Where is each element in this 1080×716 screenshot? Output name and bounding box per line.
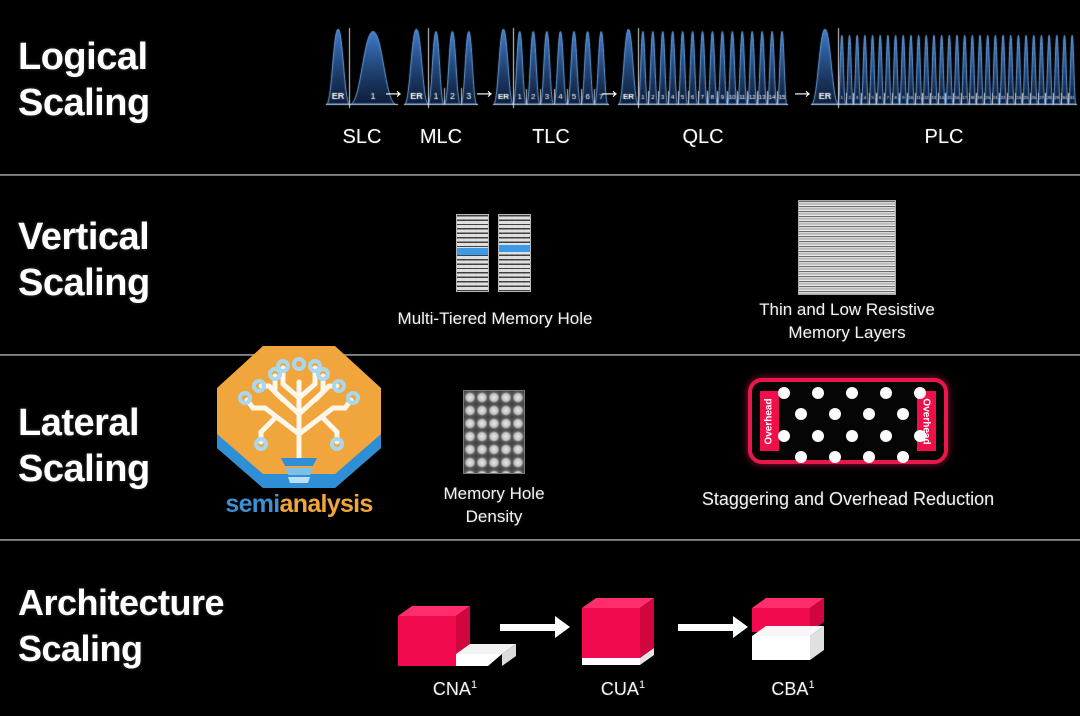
memory-hole-column-left xyxy=(456,214,489,292)
cube-caption-cua: CUA1 xyxy=(578,679,668,700)
vt-label-qlc: QLC xyxy=(617,126,789,149)
vt-distribution-slc: SLC xyxy=(325,22,399,122)
cube-cba-icon xyxy=(748,592,838,670)
vt-canvas-plc xyxy=(810,22,1078,122)
cube-caption-cna: CNA1 xyxy=(390,679,520,700)
row-divider-3 xyxy=(0,539,1080,541)
row-label-line2: Scaling xyxy=(18,446,150,492)
cube-label-cua: CUA xyxy=(601,679,639,699)
memory-hole-dot-field xyxy=(784,393,912,449)
row-label-architecture-scaling: Architecture Scaling xyxy=(18,580,224,672)
cube-caption-cba: CBA1 xyxy=(748,679,838,700)
memory-hole-dot xyxy=(880,387,892,399)
semianalysis-badge-icon xyxy=(213,342,385,492)
row-label-line1: Vertical xyxy=(18,214,150,260)
wordmark-part-semi: semi xyxy=(225,490,279,518)
memory-hole-dot xyxy=(778,387,790,399)
arrow-line-cna-to-cua xyxy=(500,624,555,631)
memory-hole-dot xyxy=(897,451,909,463)
row-divider-2 xyxy=(0,354,1080,356)
vt-distribution-plc: PLC xyxy=(810,22,1078,122)
architecture-step-cna: CNA1 xyxy=(390,598,520,670)
vt-distribution-tlc: TLC xyxy=(492,22,610,122)
caption-line1: Memory Hole xyxy=(344,482,644,505)
cube-footnote-cua: 1 xyxy=(639,679,645,691)
memory-hole-dot xyxy=(880,430,892,442)
vt-label-tlc: TLC xyxy=(492,126,610,149)
row-label-line1: Logical xyxy=(18,34,150,80)
row-label-line2: Scaling xyxy=(18,80,150,126)
cube-footnote-cba: 1 xyxy=(808,679,814,691)
architecture-step-cua: CUA1 xyxy=(578,592,668,670)
memory-hole-dot xyxy=(846,430,858,442)
memory-hole-dot xyxy=(829,408,841,420)
memory-hole-dot xyxy=(795,451,807,463)
memory-hole-density-image xyxy=(463,390,525,474)
vt-distribution-qlc: QLC xyxy=(617,22,789,122)
cube-cua-icon xyxy=(578,592,668,670)
arrow-head-cna-to-cua xyxy=(555,616,570,638)
staggering-overhead-diagram: Overhead Overhead xyxy=(748,378,948,464)
cube-label-cba: CBA xyxy=(771,679,808,699)
memory-hole-dot xyxy=(829,451,841,463)
caption-staggering-and-overhead-reduction: Staggering and Overhead Reduction xyxy=(648,488,1048,511)
thin-low-resistive-layers-image xyxy=(798,200,896,295)
caption-memory-hole-density: Memory Hole Density xyxy=(344,482,644,528)
memory-hole-dot xyxy=(863,451,875,463)
row-label-vertical-scaling: Vertical Scaling xyxy=(18,214,150,306)
semianalysis-logo: semianalysis xyxy=(213,342,385,527)
vt-distribution-mlc: MLC xyxy=(403,22,479,122)
arrow-head-cua-to-cba xyxy=(733,616,748,638)
overhead-bar-left: Overhead xyxy=(760,391,779,451)
memory-hole-dot xyxy=(812,430,824,442)
vt-canvas-qlc xyxy=(617,22,789,122)
architecture-step-cba: CBA1 xyxy=(748,592,838,670)
row-label-lateral-scaling: Lateral Scaling xyxy=(18,400,150,492)
row-label-logical-scaling: Logical Scaling xyxy=(18,34,150,126)
row-label-line1: Lateral xyxy=(18,400,150,446)
memory-hole-dot xyxy=(914,430,926,442)
slide-root: Logical Scaling Vertical Scaling Lateral… xyxy=(0,0,1080,716)
cube-footnote-cna: 1 xyxy=(471,679,477,691)
row-divider-1 xyxy=(0,174,1080,176)
cube-label-cna: CNA xyxy=(433,679,471,699)
vt-canvas-mlc xyxy=(403,22,479,122)
caption-line1: Thin and Low Resistive xyxy=(697,298,997,321)
caption-line2: Memory Layers xyxy=(697,321,997,344)
memory-hole-dot xyxy=(846,387,858,399)
caption-multi-tiered-memory-hole: Multi-Tiered Memory Hole xyxy=(345,307,645,330)
row-label-line2: Scaling xyxy=(18,626,224,672)
cube-cna-icon xyxy=(390,598,520,670)
vt-label-mlc: MLC xyxy=(403,126,479,149)
row-label-line2: Scaling xyxy=(18,260,150,306)
memory-hole-dot xyxy=(795,408,807,420)
memory-hole-dot xyxy=(778,430,790,442)
caption-line2: Density xyxy=(344,505,644,528)
semianalysis-wordmark: semianalysis xyxy=(213,490,385,519)
arrow-line-cua-to-cba xyxy=(678,624,733,631)
vt-label-slc: SLC xyxy=(325,126,399,149)
wordmark-part-analysis: analysis xyxy=(280,490,373,518)
memory-hole-dot xyxy=(897,408,909,420)
overhead-bar-right: Overhead xyxy=(917,391,936,451)
memory-hole-column-right xyxy=(498,214,531,292)
memory-hole-dot xyxy=(863,408,875,420)
memory-hole-dot xyxy=(914,387,926,399)
vt-canvas-slc xyxy=(325,22,399,122)
vt-canvas-tlc xyxy=(492,22,610,122)
vt-label-plc: PLC xyxy=(810,126,1078,149)
memory-hole-dot xyxy=(812,387,824,399)
multi-tiered-memory-hole-image xyxy=(456,214,531,292)
row-label-line1: Architecture xyxy=(18,580,224,626)
overhead-label-left: Overhead xyxy=(764,398,775,444)
caption-thin-low-resistive-memory-layers: Thin and Low Resistive Memory Layers xyxy=(697,298,997,344)
